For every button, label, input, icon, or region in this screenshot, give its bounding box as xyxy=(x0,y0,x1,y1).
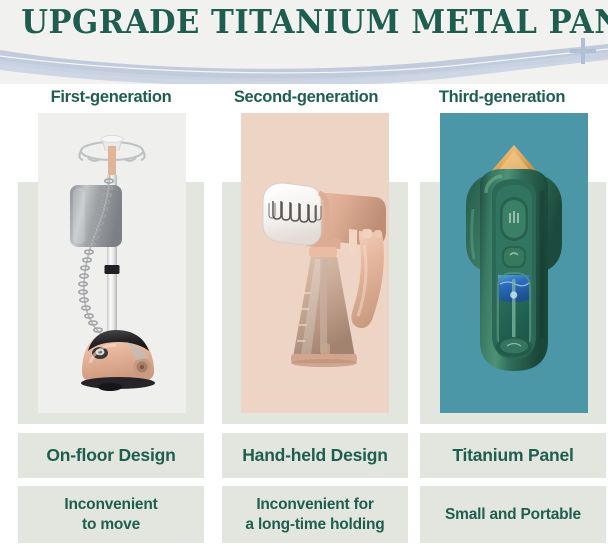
steam-button xyxy=(502,246,526,268)
steam-plate-head xyxy=(263,183,321,245)
design-caption-second: Hand-held Design xyxy=(222,433,408,478)
pole-joint xyxy=(105,265,120,274)
handheld-garment-steamer-illustration xyxy=(241,113,389,413)
drawback-caption-second: Inconvenient fora long-time holding xyxy=(222,486,408,543)
drawback-caption-third: Small and Portable xyxy=(420,486,606,543)
drawback-caption-first: Inconvenientto move xyxy=(18,486,204,543)
product-image-second-generation xyxy=(241,113,389,413)
plus-icon xyxy=(570,38,596,64)
drawback-caption-second-text: Inconvenient fora long-time holding xyxy=(222,495,408,534)
page-title: UPGRADE TITANIUM METAL PANEL xyxy=(21,2,586,41)
design-caption-first-text: On-floor Design xyxy=(18,445,204,466)
power-button xyxy=(362,229,372,238)
upper-pole xyxy=(108,146,116,179)
intake-tube xyxy=(512,279,516,347)
wave-decoration xyxy=(0,40,608,84)
drawback-caption-first-text: Inconvenientto move xyxy=(18,495,204,534)
trigger-button xyxy=(349,229,357,254)
generation-label-first: First-generation xyxy=(18,88,204,107)
design-caption-third: Titanium Panel xyxy=(420,433,606,478)
tank-intake-tube xyxy=(320,259,327,353)
product-image-third-generation xyxy=(440,113,588,413)
generation-label-second: Second-generation xyxy=(211,88,401,107)
mode-button xyxy=(374,230,382,238)
design-caption-third-text: Titanium Panel xyxy=(420,445,606,466)
design-caption-second-text: Hand-held Design xyxy=(222,445,408,466)
steamer-base-unit xyxy=(81,330,155,391)
stand-garment-steamer-illustration xyxy=(38,113,186,413)
infographic-page: UPGRADE TITANIUM METAL PANEL First-gener… xyxy=(0,0,608,556)
product-image-first-generation xyxy=(38,113,186,413)
header-banner: UPGRADE TITANIUM METAL PANEL xyxy=(0,0,608,84)
travel-titanium-steamer-illustration xyxy=(440,113,588,413)
power-button xyxy=(500,197,528,241)
generation-label-row: First-generation Second-generation Third… xyxy=(0,88,608,110)
design-caption-first: On-floor Design xyxy=(18,433,204,478)
bottom-release-button xyxy=(496,337,532,357)
drawback-caption-third-text: Small and Portable xyxy=(420,505,606,524)
generation-label-third: Third-generation xyxy=(409,88,595,107)
